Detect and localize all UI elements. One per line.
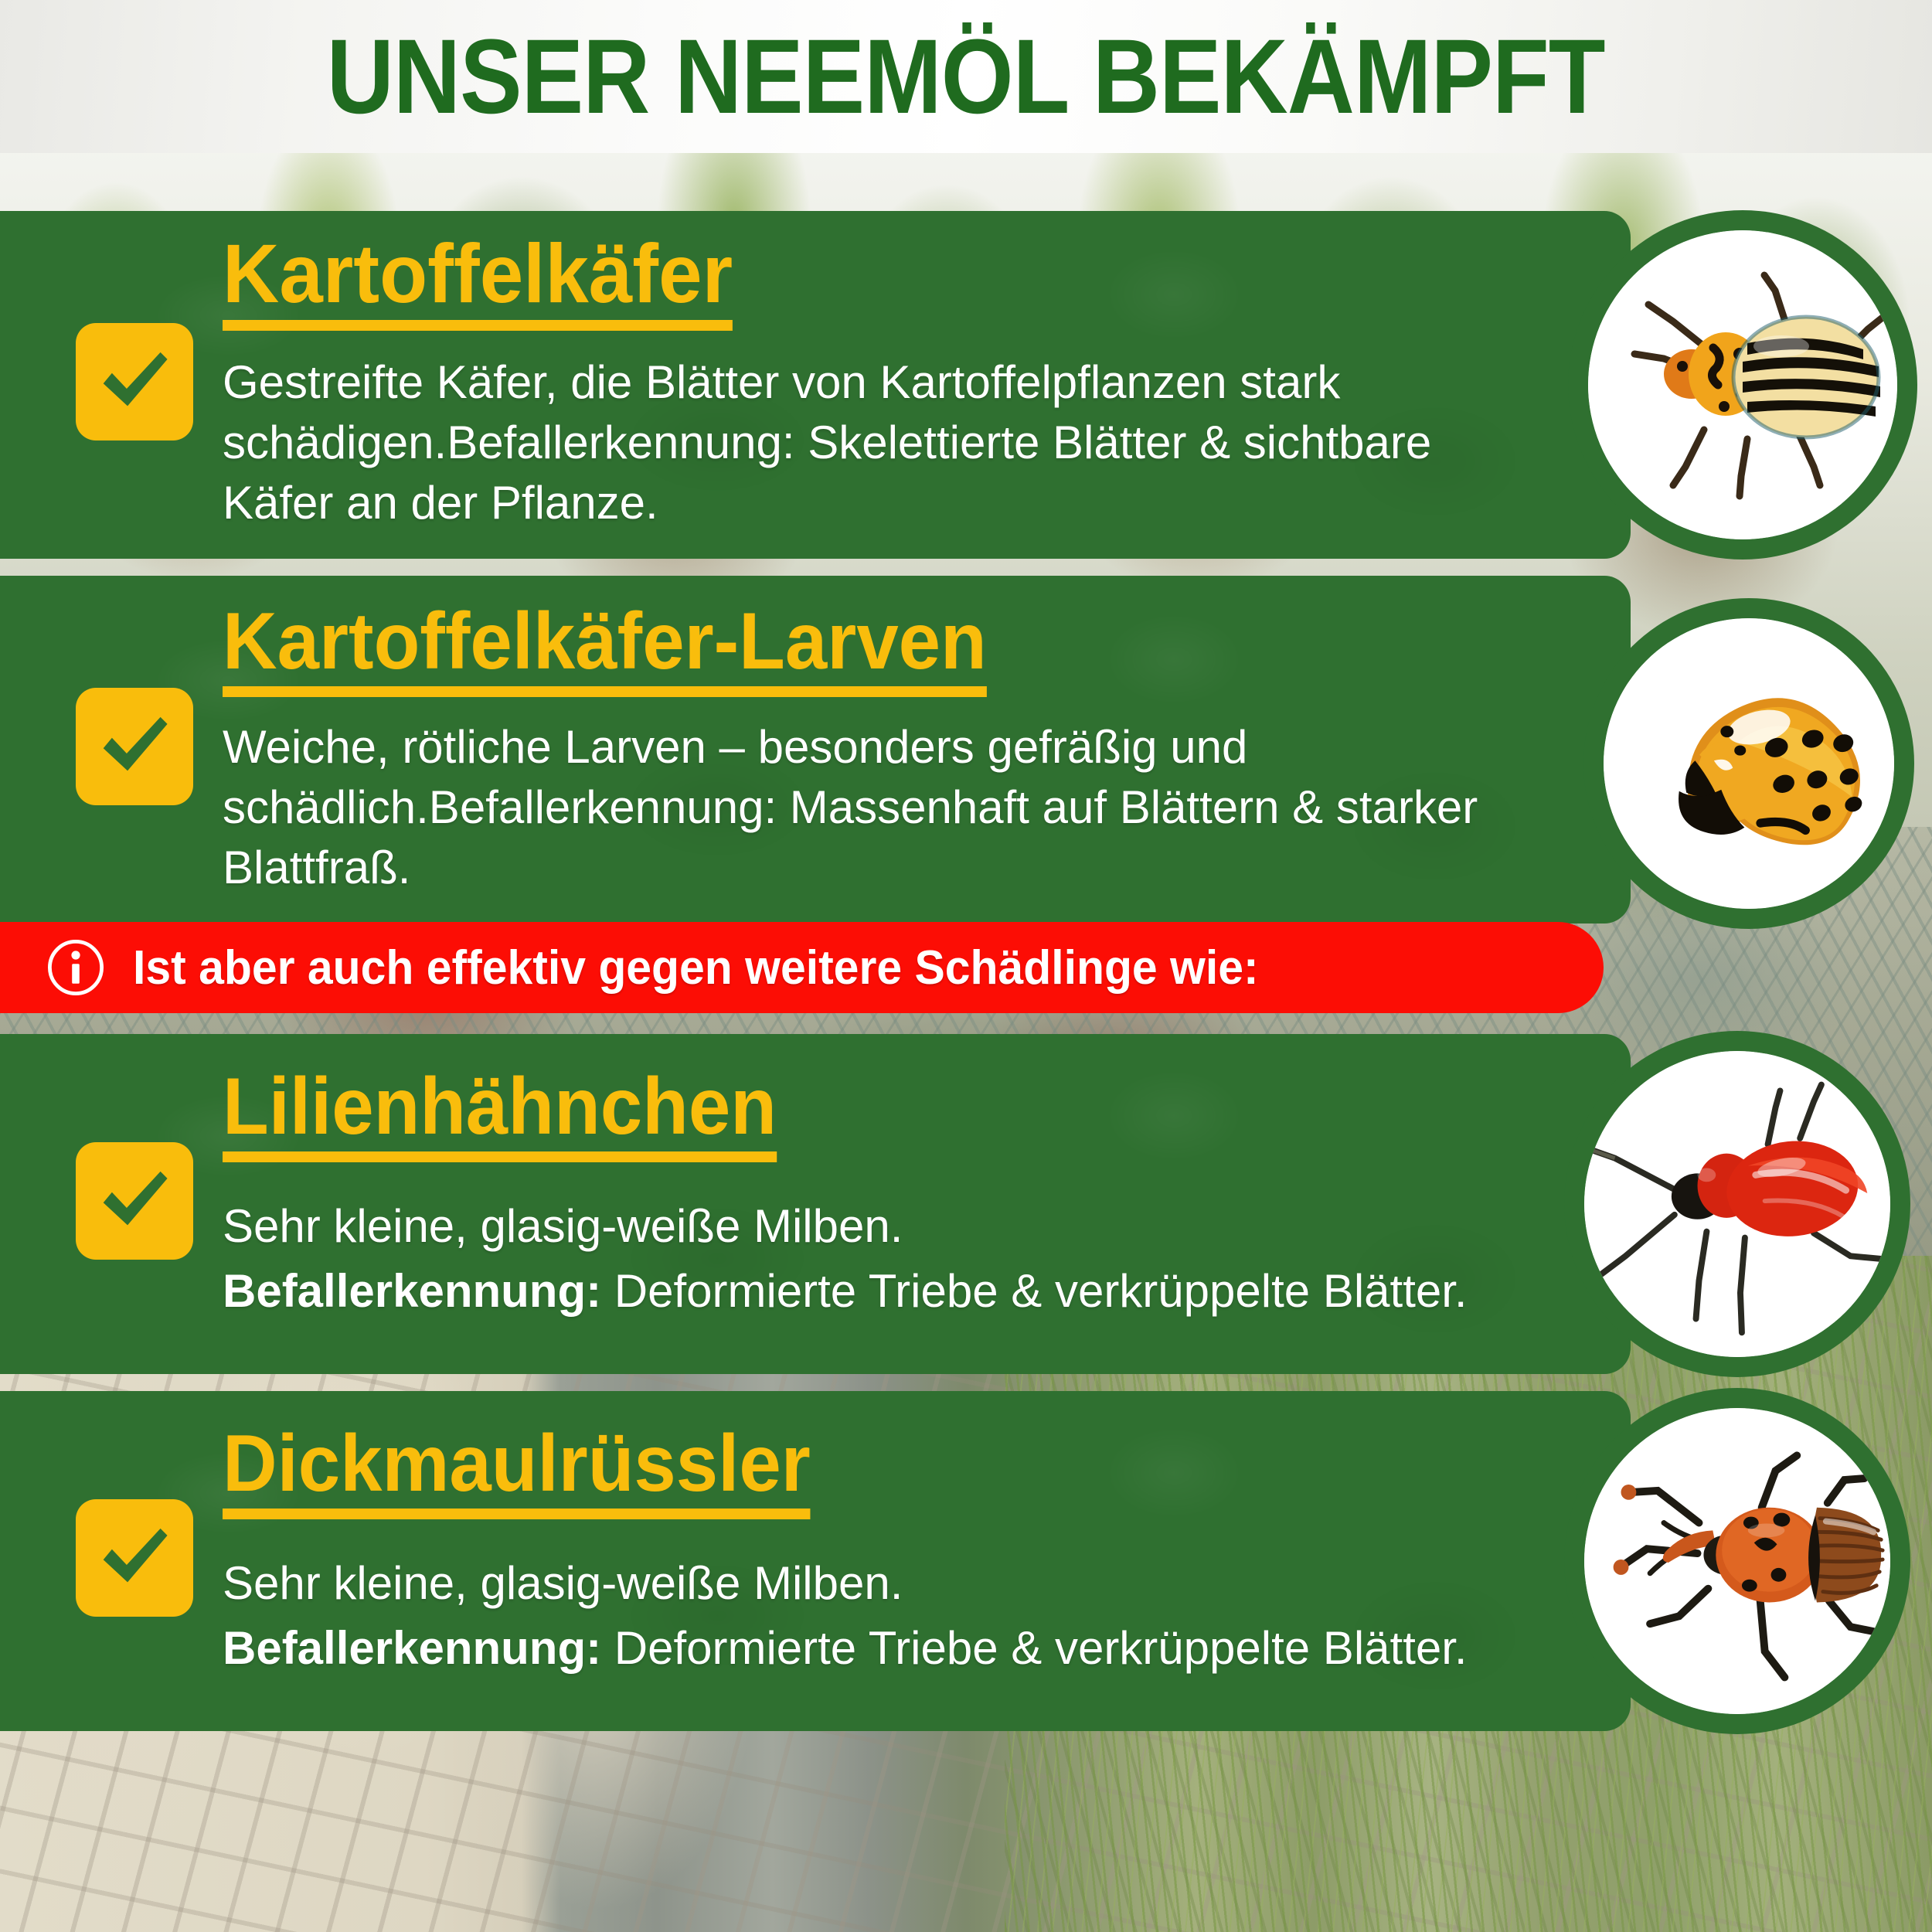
- pest-title-2: Kartoffelkäfer-Larven: [223, 601, 987, 697]
- pest-image-2: [1604, 618, 1894, 909]
- befallerkennung-label-4: Befallerkennung:: [223, 1622, 601, 1674]
- pest-image-3: [1584, 1051, 1890, 1357]
- pest-image-1: [1588, 230, 1897, 539]
- checkmark-badge-2: [76, 688, 193, 805]
- pest-title-4: Dickmaulrüssler: [223, 1423, 811, 1519]
- pest-card-body-1: Kartoffelkäfer Gestreifte Käfer, die Blä…: [223, 232, 1552, 533]
- infographic-poster: UNSER NEEMÖL BEKÄMPFT Kartoffelkäfer Ges…: [0, 0, 1932, 1932]
- checkmark-icon: [91, 1515, 178, 1601]
- scarlet-lily-beetle-icon: [1584, 1051, 1890, 1357]
- info-circle-icon: [45, 937, 107, 998]
- info-banner-text: Ist aber auch effektiv gegen weitere Sch…: [133, 940, 1259, 995]
- checkmark-badge-3: [76, 1142, 193, 1260]
- info-banner: Ist aber auch effektiv gegen weitere Sch…: [0, 922, 1604, 1013]
- pest-description-2: Weiche, rötliche Larven – besonders gefr…: [223, 717, 1536, 898]
- pest-description-3-line1: Sehr kleine, glasig-weiße Milben.: [223, 1196, 1536, 1257]
- checkmark-icon: [91, 703, 178, 790]
- vine-weevil-icon: [1584, 1408, 1890, 1714]
- pest-card-body-3: Lilienhähnchen Sehr kleine, glasig-weiße…: [223, 1066, 1614, 1321]
- pest-description-1: Gestreifte Käfer, die Blätter von Kartof…: [223, 352, 1536, 533]
- befallerkennung-label-3: Befallerkennung:: [223, 1265, 601, 1317]
- pest-card-body-2: Kartoffelkäfer-Larven Weiche, rötliche L…: [223, 601, 1536, 898]
- pest-description-4-line2: Befallerkennung: Deformierte Triebe & ve…: [223, 1618, 1536, 1679]
- pest-image-4: [1584, 1408, 1890, 1714]
- checkmark-badge-4: [76, 1499, 193, 1617]
- befallerkennung-value-3: Deformierte Triebe & verkrüppelte Blätte…: [601, 1265, 1468, 1317]
- header-bar: UNSER NEEMÖL BEKÄMPFT: [0, 0, 1932, 153]
- potato-beetle-larva-icon: [1604, 618, 1894, 909]
- befallerkennung-value-4: Deformierte Triebe & verkrüppelte Blätte…: [601, 1622, 1468, 1674]
- checkmark-icon: [91, 338, 178, 425]
- checkmark-badge-1: [76, 323, 193, 440]
- checkmark-icon: [91, 1158, 178, 1244]
- pest-title-1: Kartoffelkäfer: [223, 232, 733, 331]
- pest-card-body-4: Dickmaulrüssler Sehr kleine, glasig-weiß…: [223, 1423, 1614, 1679]
- page-title: UNSER NEEMÖL BEKÄMPFT: [327, 24, 1605, 130]
- pest-description-3-line2: Befallerkennung: Deformierte Triebe & ve…: [223, 1261, 1536, 1321]
- colorado-potato-beetle-icon: [1588, 230, 1897, 539]
- pest-title-3: Lilienhähnchen: [223, 1066, 777, 1162]
- pest-description-4-line1: Sehr kleine, glasig-weiße Milben.: [223, 1553, 1536, 1614]
